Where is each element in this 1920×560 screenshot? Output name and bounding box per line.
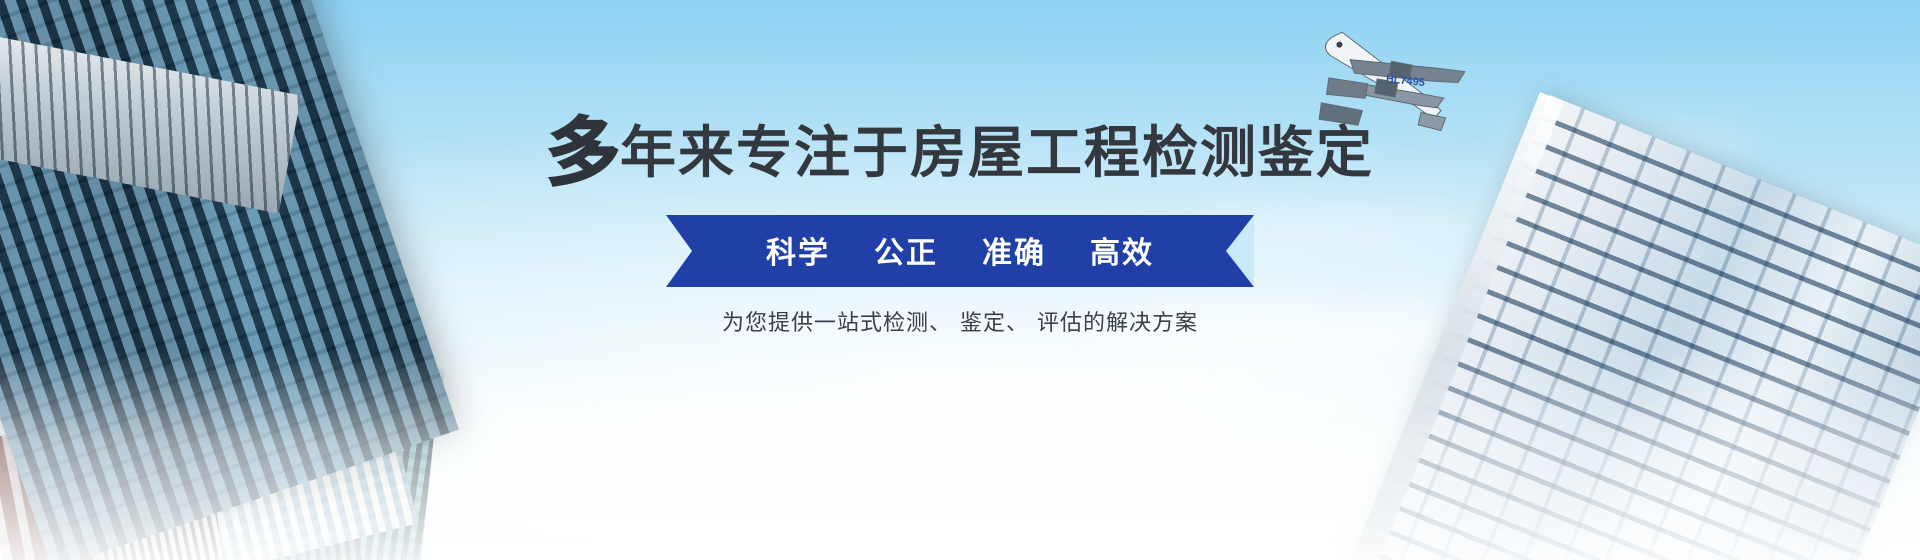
- page-title: 多年来专注于房屋工程检测鉴定: [0, 112, 1920, 189]
- slogan-word-4: 高效: [1090, 228, 1154, 272]
- hero-banner: HL7495 多年来专注于房屋工程检测鉴定 科学公正准确高效 为您提供一站式检测…: [0, 0, 1920, 560]
- banner-content: 多年来专注于房屋工程检测鉴定 科学公正准确高效 为您提供一站式检测、 鉴定、 评…: [0, 0, 1920, 560]
- ribbon-container: 科学公正准确高效: [0, 215, 1920, 287]
- banner-subtitle: 为您提供一站式检测、 鉴定、 评估的解决方案: [0, 305, 1920, 337]
- slogan-word-2: 公正: [874, 228, 938, 272]
- slogan-word-1: 科学: [766, 228, 830, 272]
- headline-rest: 年来专注于房屋工程检测鉴定: [620, 121, 1374, 186]
- headline-lead-character: 多: [546, 118, 620, 188]
- slogan-ribbon: 科学公正准确高效: [666, 215, 1254, 287]
- slogan-word-3: 准确: [982, 228, 1046, 272]
